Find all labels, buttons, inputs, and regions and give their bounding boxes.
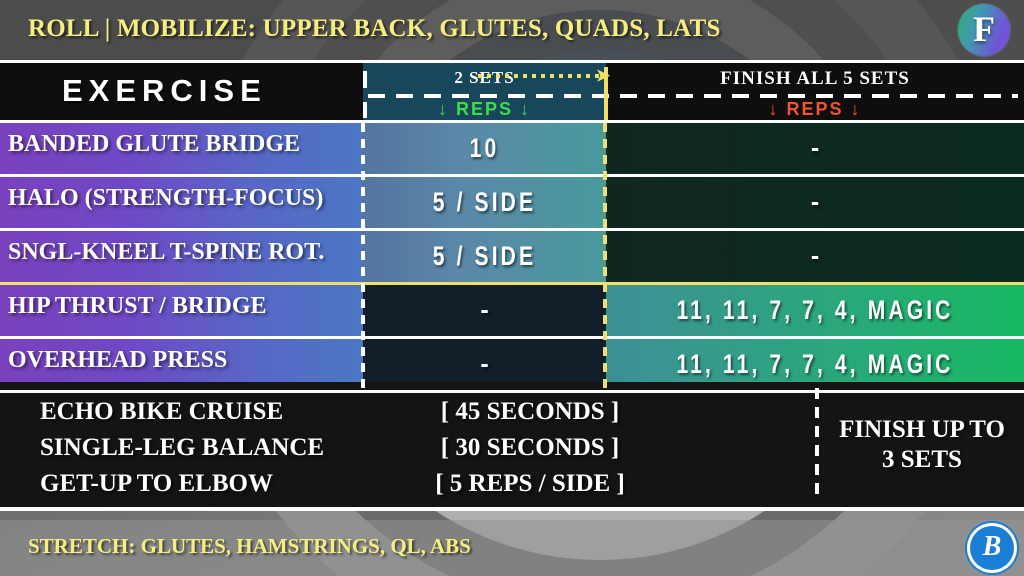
table-top-rule: [0, 60, 1024, 63]
progress-arrow-line-icon: [478, 74, 600, 78]
sets2-value: 5 / SIDE: [390, 231, 580, 282]
finisher-divider: [815, 388, 819, 501]
finisher-item[interactable]: SINGLE-LEG BALANCE [ 30 SECONDS ]: [0, 430, 812, 470]
finisher-name: GET-UP TO ELBOW: [40, 470, 420, 498]
row-rule-yellow: [0, 282, 1024, 285]
sets2-column-header: 2 SETS: [363, 68, 606, 88]
sets2-cell: 5 / SIDE: [363, 177, 606, 228]
finisher-bottom-rule: [0, 507, 1024, 511]
finisher-note-line1: FINISH UP TO: [839, 415, 1005, 445]
table-header-row: EXERCISE 2 SETS ➤ FINISH ALL 5 SETS ↓ RE…: [0, 63, 1024, 120]
finish5-column-header: FINISH ALL 5 SETS: [606, 68, 1024, 90]
header-dashed-rule: [368, 94, 1018, 98]
sets2-reps-label: ↓ REPS ↓: [363, 99, 606, 120]
finisher-block: ECHO BIKE CRUISE [ 45 SECONDS ] SINGLE-L…: [0, 382, 1024, 507]
b-logo-letter: B: [970, 526, 1014, 570]
sets2-left-divider: [361, 123, 365, 390]
table-row[interactable]: HALO (STRENGTH-FOCUS) 5 / SIDE -: [0, 177, 1024, 228]
row-rule: [0, 336, 1024, 339]
finish5-value: 11, 11, 7, 7, 4, MAGIC: [652, 285, 978, 336]
f45-logo-icon: F: [958, 4, 1010, 56]
row-rule: [0, 120, 1024, 123]
finisher-value: [ 5 REPS / SIDE ]: [370, 470, 690, 498]
exercise-name-cell: BANDED GLUTE BRIDGE: [0, 123, 363, 174]
exercise-name: OVERHEAD PRESS: [8, 347, 355, 374]
sets2-value: 10: [390, 123, 580, 174]
f45-logo-letter: F: [958, 4, 1010, 56]
exercise-name: HIP THRUST / BRIDGE: [8, 293, 355, 320]
sets2-right-divider: [603, 123, 607, 390]
footer-title: STRETCH: GLUTES, HAMSTRINGS, QL, ABS: [28, 534, 471, 559]
finisher-item[interactable]: GET-UP TO ELBOW [ 5 REPS / SIDE ]: [0, 466, 812, 506]
table-row[interactable]: HIP THRUST / BRIDGE - 11, 11, 7, 7, 4, M…: [0, 285, 1024, 336]
exercise-name: SNGL-KNEEL T-SPINE ROT.: [8, 239, 355, 266]
finisher-item[interactable]: ECHO BIKE CRUISE [ 45 SECONDS ]: [0, 394, 812, 434]
finish5-cell: 11, 11, 7, 7, 4, MAGIC: [606, 285, 1024, 336]
sets2-value: 5 / SIDE: [390, 177, 580, 228]
header-bar: ROLL | MOBILIZE: UPPER BACK, GLUTES, QUA…: [0, 0, 1024, 60]
finisher-value: [ 45 SECONDS ]: [370, 398, 690, 426]
finish5-value: -: [606, 177, 1024, 228]
finish5-value: -: [606, 123, 1024, 174]
exercise-name: BANDED GLUTE BRIDGE: [8, 131, 355, 158]
row-rule: [0, 228, 1024, 231]
workout-board: B ROLL | MOBILIZE: UPPER BACK, GLUTES, Q…: [0, 0, 1024, 576]
table-row[interactable]: SNGL-KNEEL T-SPINE ROT. 5 / SIDE -: [0, 231, 1024, 282]
finisher-note: FINISH UP TO 3 SETS: [820, 382, 1024, 507]
table-bottom-rule: [0, 390, 1024, 393]
table-row[interactable]: BANDED GLUTE BRIDGE 10 -: [0, 123, 1024, 174]
sets2-value: -: [363, 285, 606, 336]
exercise-name-cell: HALO (STRENGTH-FOCUS): [0, 177, 363, 228]
finish5-cell: -: [606, 231, 1024, 282]
exercise-name: HALO (STRENGTH-FOCUS): [8, 185, 355, 212]
finisher-name: SINGLE-LEG BALANCE: [40, 434, 420, 462]
sets2-cell: 5 / SIDE: [363, 231, 606, 282]
sets2-cell: 10: [363, 123, 606, 174]
finish5-cell: -: [606, 177, 1024, 228]
finish5-value: -: [606, 231, 1024, 282]
row-rule: [0, 174, 1024, 177]
finisher-name: ECHO BIKE CRUISE: [40, 398, 420, 426]
footer-bar: STRETCH: GLUTES, HAMSTRINGS, QL, ABS B: [0, 520, 1024, 576]
finish5-cell: -: [606, 123, 1024, 174]
finisher-note-line2: 3 SETS: [839, 445, 1005, 475]
sets2-cell: -: [363, 285, 606, 336]
exercise-name-cell: SNGL-KNEEL T-SPINE ROT.: [0, 231, 363, 282]
exercise-name-cell: HIP THRUST / BRIDGE: [0, 285, 363, 336]
finisher-value: [ 30 SECONDS ]: [370, 434, 690, 462]
header-title: ROLL | MOBILIZE: UPPER BACK, GLUTES, QUA…: [28, 15, 721, 43]
b-logo-icon: B: [970, 526, 1014, 570]
exercise-column-header: EXERCISE: [62, 73, 362, 109]
finish5-reps-label: ↓ REPS ↓: [606, 99, 1024, 120]
finisher-list: ECHO BIKE CRUISE [ 45 SECONDS ] SINGLE-L…: [0, 382, 812, 507]
